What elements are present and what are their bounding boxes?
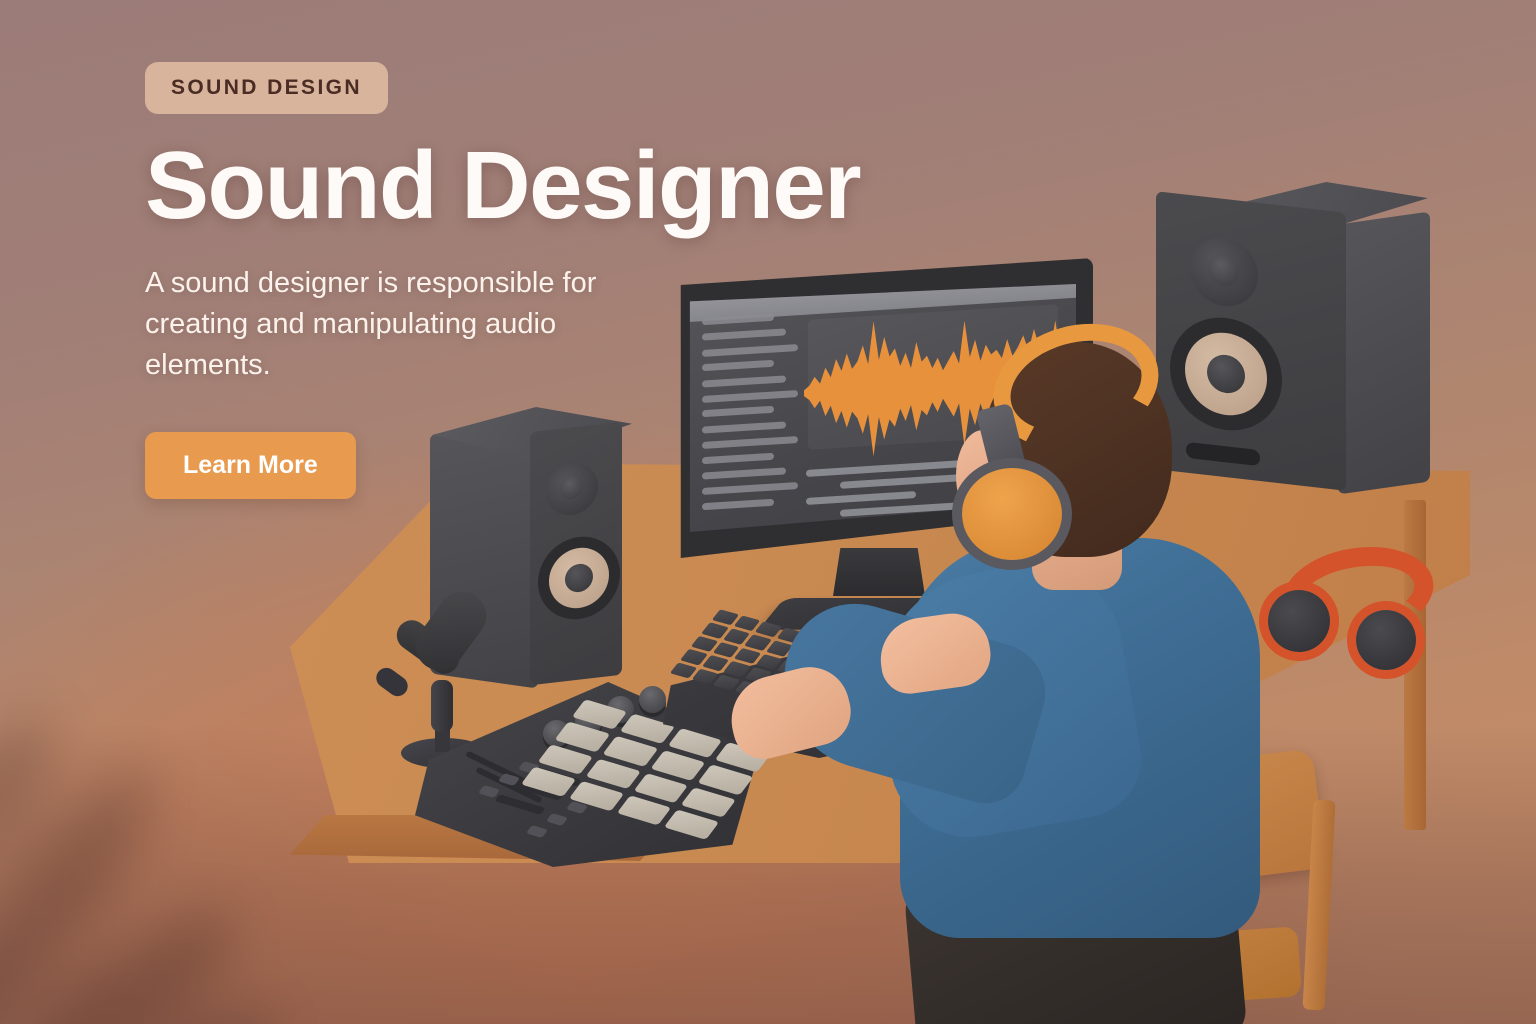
desk-headphones-earcup-right: [1356, 610, 1416, 670]
learn-more-button[interactable]: Learn More: [145, 432, 356, 499]
pad-controller-knob-4[interactable]: [639, 686, 666, 713]
hero-banner: SOUND DESIGN Sound Designer A sound desi…: [0, 0, 1536, 1024]
microphone-connector: [372, 664, 411, 700]
microphone-capsule: [406, 582, 495, 680]
hero-copy: SOUND DESIGN Sound Designer A sound desi…: [145, 62, 865, 499]
speaker-right-side-panel: [1338, 212, 1430, 495]
worn-headphones-earcup: [962, 468, 1062, 560]
page-title: Sound Designer: [145, 136, 865, 237]
category-badge: SOUND DESIGN: [145, 62, 388, 114]
hero-description: A sound designer is responsible for crea…: [145, 263, 645, 387]
